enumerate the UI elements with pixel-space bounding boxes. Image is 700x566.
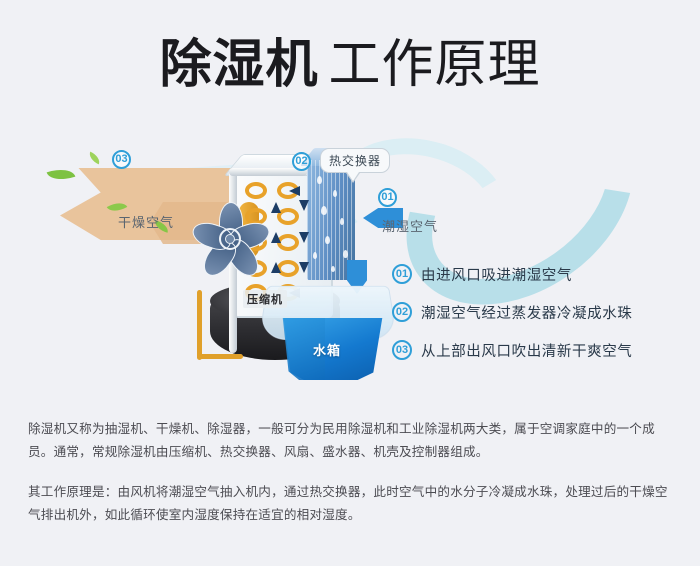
flow-arrow-down-icon [299, 232, 309, 243]
step-text-03: 从上部出风口吹出清新干爽空气 [421, 340, 632, 361]
fan-hub-center [225, 234, 235, 244]
water-droplet [333, 190, 337, 197]
step-text-02: 潮湿空气经过蒸发器冷凝成水珠 [421, 302, 632, 323]
refrigerant-pipe-bend [197, 354, 243, 359]
water-droplet [340, 218, 344, 225]
step-item: 03 从上部出风口吹出清新干爽空气 [392, 331, 692, 369]
steps-list: 01 由进风口吸进潮湿空气 02 潮湿空气经过蒸发器冷凝成水珠 03 从上部出风… [392, 255, 692, 369]
flow-arrow-left-icon [289, 186, 300, 196]
water-droplet [317, 176, 322, 184]
description-paragraph-1: 除湿机又称为抽湿机、干燥机、除湿器，一般可分为民用除湿机和工业除湿机两大类，属于… [28, 418, 678, 464]
flow-arrow-down-icon [299, 200, 309, 211]
water-droplet [325, 236, 330, 244]
callout-badge-01: 01 [378, 188, 397, 207]
callout-label-dry-air: 干燥空气 [118, 212, 174, 231]
compressor-label: 压缩机 [243, 290, 287, 308]
water-droplet [331, 266, 335, 272]
step-badge-03: 03 [392, 340, 412, 360]
step-badge-01: 01 [392, 264, 412, 284]
water-droplet [313, 252, 317, 259]
step-badge-02: 02 [392, 302, 412, 322]
page-title-part1: 除湿机 [159, 36, 318, 94]
callout-label-humid-air: 潮湿空气 [382, 216, 438, 235]
refrigerant-pipe [197, 290, 202, 360]
page-title: 除湿机工作原理 [0, 34, 700, 96]
description-paragraph-2: 其工作原理是：由风机将潮湿空气抽入机内，通过热交换器，此时空气中的水分子冷凝成水… [28, 481, 678, 527]
description-block: 除湿机又称为抽湿机、干燥机、除湿器，一般可分为民用除湿机和工业除湿机两大类，属于… [28, 418, 678, 527]
step-item: 01 由进风口吸进潮湿空气 [392, 255, 692, 293]
dehumidifier-unit: 水箱 压缩机 [185, 140, 405, 390]
fan-icon [185, 192, 277, 284]
page-title-part2: 工作原理 [329, 36, 541, 94]
callout-badge-02: 02 [292, 152, 311, 171]
step-item: 02 潮湿空气经过蒸发器冷凝成水珠 [392, 293, 692, 331]
step-text-01: 由进风口吸进潮湿空气 [421, 264, 572, 285]
flow-arrow-down-icon [299, 262, 309, 273]
water-droplet [343, 250, 348, 258]
leaf-icon [47, 164, 76, 184]
callout-bubble-heat-exchanger: 热交换器 [320, 148, 390, 173]
callout-badge-03: 03 [112, 150, 131, 169]
water-droplet [321, 206, 327, 215]
leaf-icon [87, 152, 102, 165]
water-tank-label: 水箱 [313, 340, 341, 359]
